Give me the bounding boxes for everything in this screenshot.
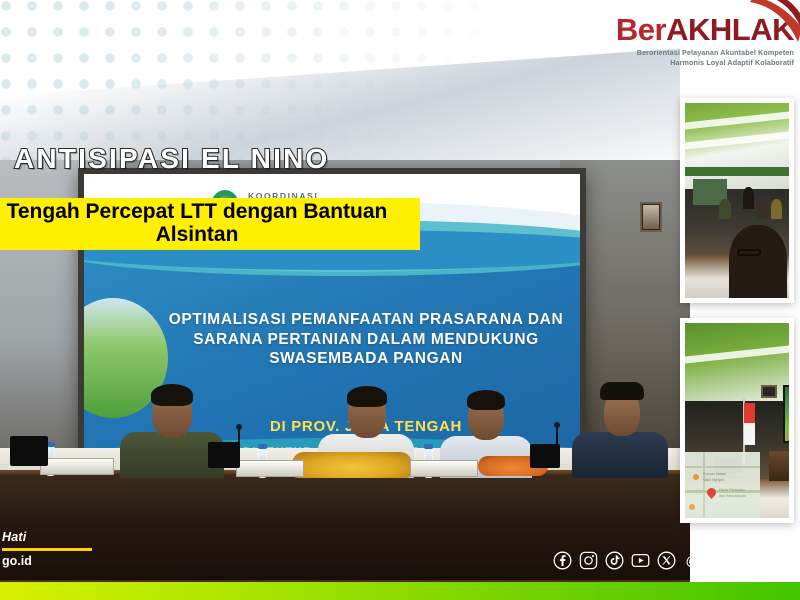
- thumb1-attendee-2: [719, 199, 731, 219]
- x-twitter-icon[interactable]: [657, 551, 676, 570]
- thumbnail-meeting-room[interactable]: [680, 98, 794, 303]
- panelist-1-hair: [151, 384, 193, 406]
- wall-portrait-image: [643, 205, 659, 229]
- thumb1-attendee-3: [757, 199, 768, 219]
- lower-left-caption: Hati go.id: [2, 530, 92, 568]
- page-kicker-title: ANTISIPASI EL NINO: [14, 143, 330, 175]
- thumb1-attendee-4: [771, 199, 782, 219]
- thumb2-map-overlay[interactable]: Rumah Makan Sakti Nyegah Dinas Pertanian…: [685, 452, 760, 518]
- table-monitor-2: [208, 442, 240, 468]
- panelist-4-blangkon-hat: [600, 382, 644, 400]
- logo-word-ber: Ber: [616, 12, 666, 47]
- panelist-4-body: [572, 432, 668, 478]
- map-poi-label-1: Rumah Makan: [703, 472, 726, 477]
- logo-word-akhlak: AKHLAK: [666, 12, 794, 47]
- instagram-icon[interactable]: [579, 551, 598, 570]
- youtube-icon[interactable]: [631, 551, 650, 570]
- fruit-arrangement-bananas: [292, 452, 412, 478]
- berakhlak-logo: BerAKHLAK Berorientasi Pelayanan Akuntab…: [616, 14, 794, 67]
- logo-subtitle-line-1: Berorientasi Pelayanan Akuntabel Kompete…: [616, 48, 794, 58]
- slide-main-text: OPTIMALISASI PEMANFAATAN PRASARANA DAN S…: [166, 310, 566, 369]
- map-poi-label-3: Dinas Pertanian: [719, 488, 745, 493]
- social-media-bar: @brmplingkunga: [553, 551, 794, 570]
- logo-subtitle-line-2: Harmonis Loyal Adaptif Kolaboratif: [616, 58, 794, 68]
- map-road-2: [703, 452, 705, 518]
- thumb2-wall-portrait: [761, 385, 777, 398]
- map-poi-marker-1: [693, 474, 699, 480]
- thumb1-foreground-person: [729, 225, 787, 298]
- thumbnail-room-with-flag-image: Rumah Makan Sakti Nyegah Dinas Pertanian…: [685, 323, 789, 518]
- nameplate-2: [236, 460, 304, 477]
- thumbnail-meeting-room-image: [685, 103, 789, 298]
- headline-banner-text: Tengah Percepat LTT dengan Bantuan Alsin…: [7, 201, 388, 246]
- map-location-pin-icon: [705, 486, 718, 499]
- nameplate-1: [40, 458, 114, 475]
- facebook-icon[interactable]: [553, 551, 572, 570]
- thumb1-green-band: [685, 167, 789, 176]
- thumbnail-room-with-flag[interactable]: Rumah Makan Sakti Nyegah Dinas Pertanian…: [680, 318, 794, 523]
- thumb1-attendee-1: [743, 187, 754, 209]
- tiktok-icon[interactable]: [605, 551, 624, 570]
- map-poi-marker-2: [689, 504, 695, 510]
- thumb2-display-screen: [783, 385, 789, 443]
- thumb2-desk: [769, 451, 789, 481]
- table-monitor-3: [530, 444, 560, 468]
- thumb2-indonesian-flag: [744, 403, 755, 445]
- water-bottle-cap-3: [424, 444, 433, 449]
- map-road-1: [685, 466, 760, 468]
- caption-line-1: Hati: [2, 530, 92, 544]
- caption-line-2: go.id: [2, 554, 92, 568]
- berakhlak-wordmark: BerAKHLAK: [616, 14, 794, 45]
- map-poi-label-2: Sakti Nyegah: [703, 478, 724, 483]
- thumb1-eyeglasses-icon: [737, 249, 761, 256]
- microphone-head-2: [554, 422, 560, 428]
- headline-banner: Tengah Percepat LTT dengan Bantuan Alsin…: [0, 198, 420, 250]
- social-handle[interactable]: @brmplingkunga: [686, 554, 794, 568]
- caption-divider: [2, 548, 92, 551]
- microphone-head-1: [236, 424, 242, 430]
- table-monitor-1: [10, 436, 48, 466]
- bottom-green-bar: [0, 582, 800, 600]
- map-poi-label-4: dan Kebudayaan: [719, 494, 746, 499]
- nameplate-3: [410, 460, 478, 477]
- panelist-2-hair: [347, 386, 387, 407]
- water-bottle-cap-2: [258, 444, 267, 449]
- panelist-3-hair: [467, 390, 505, 410]
